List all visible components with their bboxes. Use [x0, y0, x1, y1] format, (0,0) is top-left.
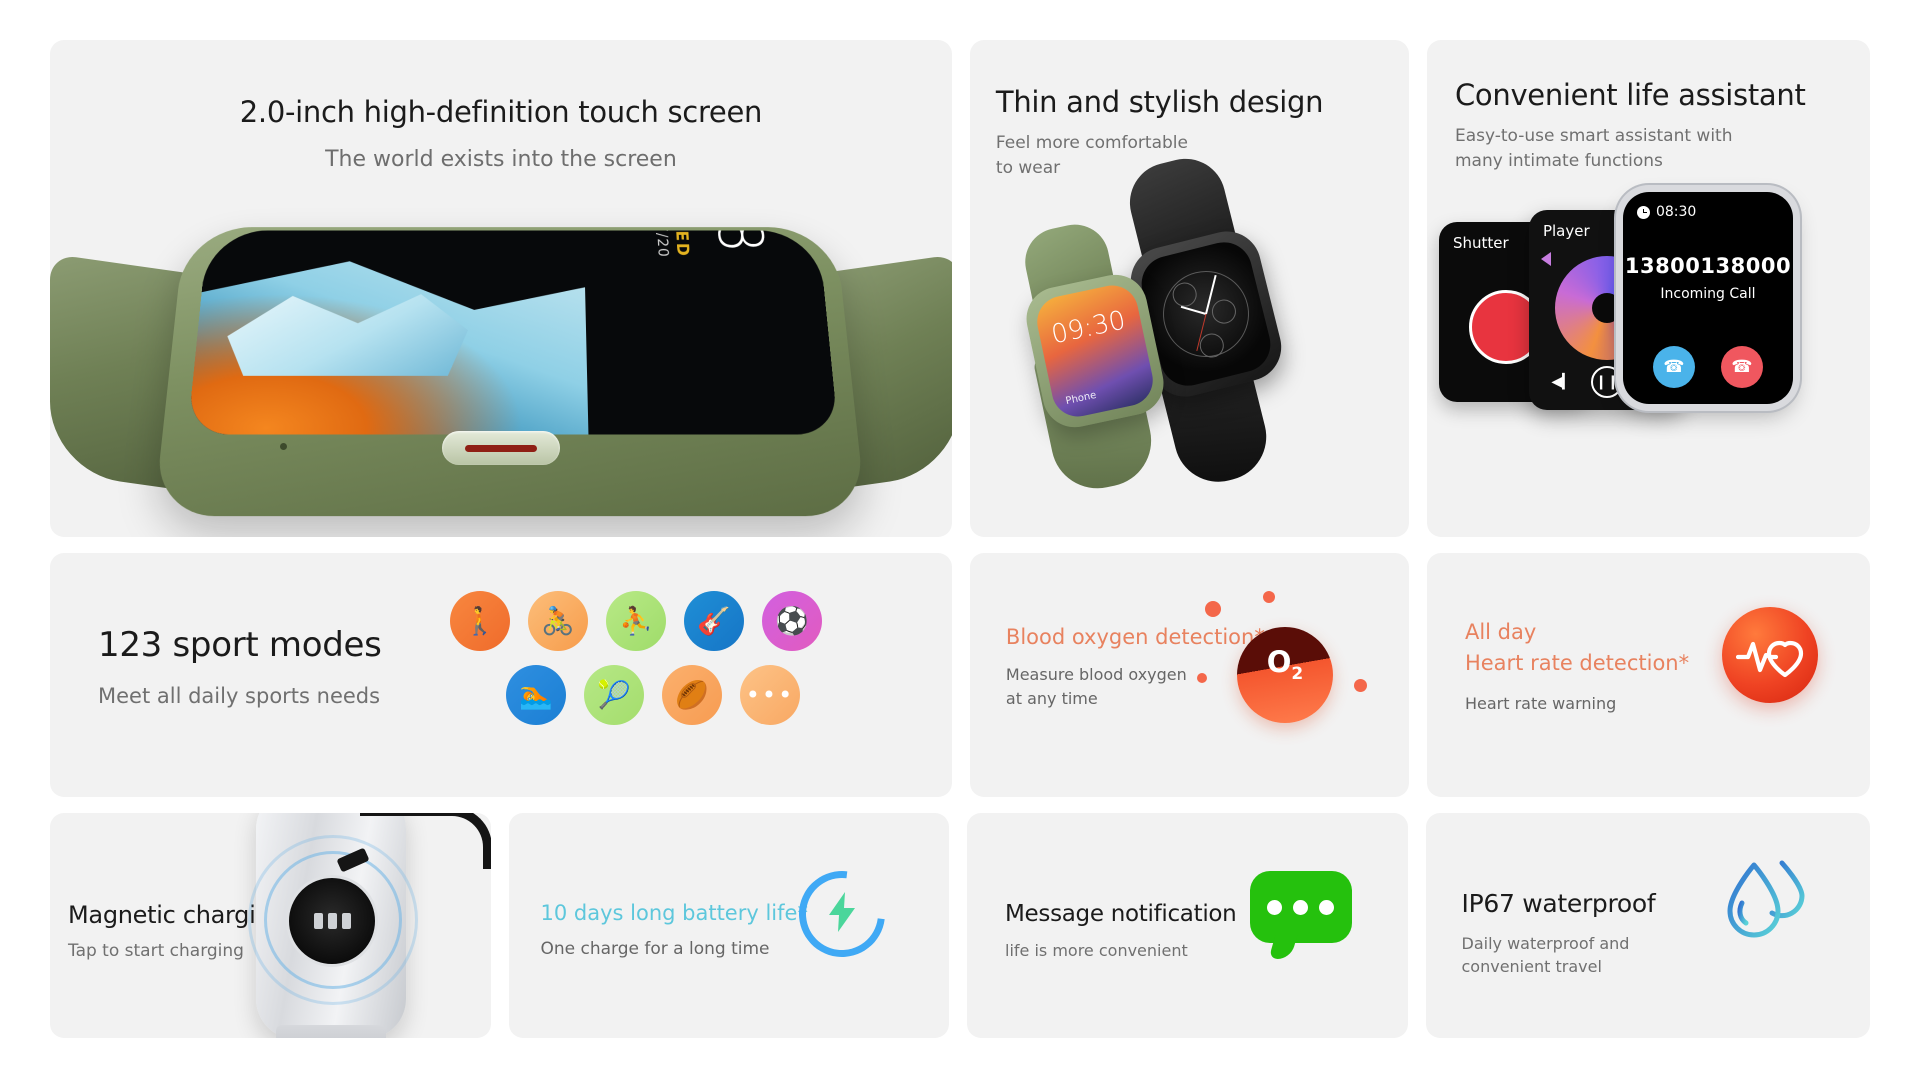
charging-contacts	[286, 875, 378, 967]
call-time-text: 08:30	[1656, 204, 1696, 220]
microphone-hole	[280, 443, 287, 450]
jump-rope-icon[interactable]: ⛹	[606, 591, 666, 651]
heart-rate-subtitle: Heart rate warning	[1465, 694, 1689, 713]
touch-screen-subtitle: The world exists into the screen	[50, 147, 952, 172]
battery-life-title: 10 days long battery life*	[541, 901, 808, 925]
tennis-icon[interactable]: 🎾	[584, 665, 644, 725]
blood-oxygen-graphic: O2	[1197, 591, 1367, 761]
sport-modes-title: 123 sport modes	[98, 625, 382, 665]
player-label: Player	[1543, 222, 1590, 240]
thin-design-title: Thin and stylish design	[996, 85, 1323, 119]
heart-rate-icon	[1722, 607, 1818, 703]
call-state-label: Incoming Call	[1623, 286, 1793, 302]
waterproof-subtitle: Daily waterproof and convenient travel	[1462, 932, 1656, 978]
card-life-assistant: Convenient life assistant Easy-to-use sm…	[1427, 40, 1870, 537]
life-assistant-title: Convenient life assistant	[1455, 78, 1806, 112]
bubble-decor-2	[1197, 673, 1207, 683]
cycling-icon[interactable]: 🚴	[528, 591, 588, 651]
heart-rate-title-line2: Heart rate detection*	[1465, 648, 1689, 680]
feature-row-1: 2.0-inch high-definition touch screen Th…	[50, 40, 1870, 537]
side-button	[442, 431, 560, 465]
message-notification-title: Message notification	[1005, 901, 1236, 927]
smartwatch-side-photo: 10:08 WED 07/20	[50, 215, 952, 537]
card-waterproof: IP67 waterproof Daily waterproof and con…	[1426, 813, 1870, 1038]
badminton-icon[interactable]: 🎸	[684, 591, 744, 651]
incoming-call-panel: 08:30 13800138000 Incoming Call ☎ ☎	[1623, 192, 1793, 404]
card-battery-life: 10 days long battery life* One charge fo…	[509, 813, 950, 1038]
clock-icon	[1637, 206, 1650, 219]
message-bubble-icon	[1250, 871, 1352, 943]
card-sport-modes: 123 sport modes Meet all daily sports ne…	[50, 553, 952, 797]
soccer-icon[interactable]: ⚽	[762, 591, 822, 651]
chat-bubble	[1250, 871, 1352, 943]
waterproof-title: IP67 waterproof	[1462, 889, 1656, 918]
shutter-label: Shutter	[1453, 234, 1509, 252]
o2-symbol: O	[1267, 645, 1292, 679]
card-message-notification: Message notification life is more conven…	[967, 813, 1408, 1038]
green-watch-label: Phone	[1065, 390, 1098, 407]
walking-icon[interactable]: 🚶	[450, 591, 510, 651]
call-status-time: 08:30	[1637, 204, 1696, 220]
card-blood-oxygen: Blood oxygen detection* Measure blood ox…	[970, 553, 1409, 797]
watch-face-time: 10:08	[696, 230, 777, 254]
swimming-icon[interactable]: 🏊	[506, 665, 566, 725]
feature-row-2: 123 sport modes Meet all daily sports ne…	[50, 553, 1870, 797]
bubble-decor-1	[1205, 601, 1221, 617]
card-thin-design: Thin and stylish design Feel more comfor…	[970, 40, 1409, 537]
two-watches-photo: 09:30 Phone	[1018, 160, 1378, 490]
card-heart-rate: All day Heart rate detection* Heart rate…	[1427, 553, 1870, 797]
volume-icon	[1541, 252, 1551, 266]
feature-row-3: Magnetic charging Tap to start charging …	[50, 813, 1870, 1038]
watch-display: 10:08 WED 07/20	[187, 230, 838, 434]
green-watch-time: 09:30	[1049, 309, 1127, 348]
charging-cable	[360, 813, 491, 869]
message-notification-subtitle: life is more convenient	[1005, 939, 1236, 962]
rugby-icon[interactable]: 🏉	[662, 665, 722, 725]
sport-icon-grid: 🚶 🚴 ⛹ 🎸 ⚽ 🏊 🎾 🏉 •••	[450, 591, 910, 725]
bubble-decor-4	[1263, 591, 1275, 603]
heart-rate-title-line1: All day	[1465, 617, 1689, 649]
more-sports-icon[interactable]: •••	[740, 665, 800, 725]
o2-subscript: 2	[1291, 663, 1303, 683]
caller-number: 13800138000	[1623, 254, 1793, 278]
battery-icon	[799, 871, 885, 957]
infographic-page: 2.0-inch high-definition touch screen Th…	[0, 0, 1920, 1078]
previous-track-icon[interactable]: ◀▎	[1551, 374, 1573, 390]
answer-call-icon[interactable]: ☎	[1653, 346, 1695, 388]
card-magnetic-charging: Magnetic charging Tap to start charging	[50, 813, 491, 1038]
assistant-screens-group: Shutter Player 04 ◀▎ ❙❙ ▎▶	[1433, 192, 1870, 462]
lightning-bolt-icon	[825, 890, 859, 938]
water-drop-icon	[1710, 855, 1814, 963]
life-assistant-subtitle: Easy-to-use smart assistant with many in…	[1455, 124, 1806, 173]
charging-photo	[210, 813, 490, 1038]
watch-strap-bottom	[276, 1025, 386, 1038]
pause-icon[interactable]: ❙❙	[1591, 366, 1623, 398]
card-touch-screen: 2.0-inch high-definition touch screen Th…	[50, 40, 952, 537]
watch-face-date: 07/20	[653, 230, 673, 257]
sport-modes-subtitle: Meet all daily sports needs	[98, 681, 382, 711]
touch-screen-title: 2.0-inch high-definition touch screen	[50, 95, 952, 129]
bubble-decor-3	[1354, 679, 1367, 692]
decline-call-icon[interactable]: ☎	[1721, 346, 1763, 388]
o2-badge-icon: O2	[1237, 627, 1333, 723]
watch-face-day: WED	[670, 230, 692, 257]
call-action-buttons: ☎ ☎	[1623, 346, 1793, 388]
battery-life-subtitle: One charge for a long time	[541, 939, 808, 959]
